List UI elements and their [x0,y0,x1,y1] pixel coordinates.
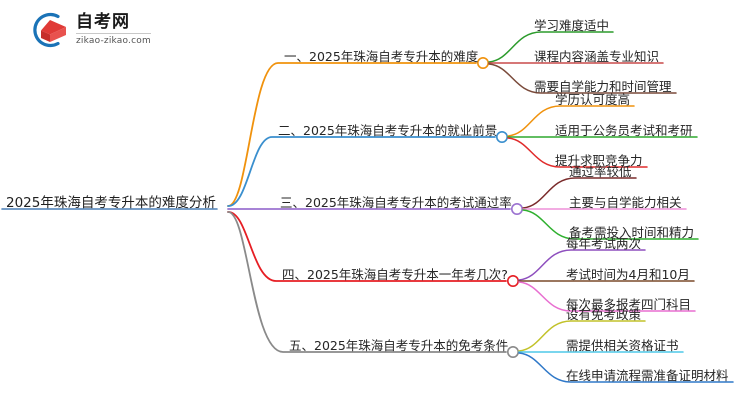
leaf-node-label-4-2[interactable]: 考试时间为4月和10月 [566,264,690,283]
leaf-node-label-2-2[interactable]: 适用于公务员考试和考研 [555,120,693,139]
branch-node-label-3[interactable]: 三、2025年珠海自考专升本的考试通过率 [280,192,512,211]
leaf-node-label-5-1[interactable]: 设有免考政策 [566,304,641,323]
leaf-node-label-5-3[interactable]: 在线申请流程需准备证明材料 [566,365,729,384]
leaf-node-label-3-1[interactable]: 通过率较低 [569,161,632,180]
leaf-node-label-2-1[interactable]: 学历认可度高 [555,89,630,108]
branch-node-label-4[interactable]: 四、2025年珠海自考专升本一年考几次? [282,264,508,283]
zikao-logo-icon [28,9,70,51]
leaf-node-label-1-1[interactable]: 学习难度适中 [534,15,609,34]
leaf-node-label-3-2[interactable]: 主要与自学能力相关 [569,192,682,211]
mindmap-node-dot[interactable] [508,276,518,286]
leaf-node-label-1-2[interactable]: 课程内容涵盖专业知识 [534,46,659,65]
leaf-node-label-4-1[interactable]: 每年考试两次 [566,233,641,252]
leaf-node-label-5-2[interactable]: 需提供相关资格证书 [566,335,679,354]
logo-title: 自考网 [76,14,151,34]
root-node-label[interactable]: 2025年珠海自考专升本的难度分析 [6,191,216,211]
branch-node-label-2[interactable]: 二、2025年珠海自考专升本的就业前景 [278,120,497,139]
mindmap-node-dot[interactable] [512,204,522,214]
site-logo[interactable]: 自考网 zikao-zikao.com [28,8,151,52]
branch-node-label-5[interactable]: 五、2025年珠海自考专升本的免考条件 [289,335,508,354]
mindmap-node-dot[interactable] [478,58,488,68]
mindmap-node-dot[interactable] [497,132,507,142]
branch-node-label-1[interactable]: 一、2025年珠海自考专升本的难度 [284,46,478,65]
logo-subtitle: zikao-zikao.com [76,37,151,46]
mindmap-canvas: 自考网 zikao-zikao.com 2025年珠海自考专升本的难度分析一、2… [0,0,750,410]
logo-text: 自考网 zikao-zikao.com [76,14,151,46]
mindmap-node-dot[interactable] [508,347,518,357]
